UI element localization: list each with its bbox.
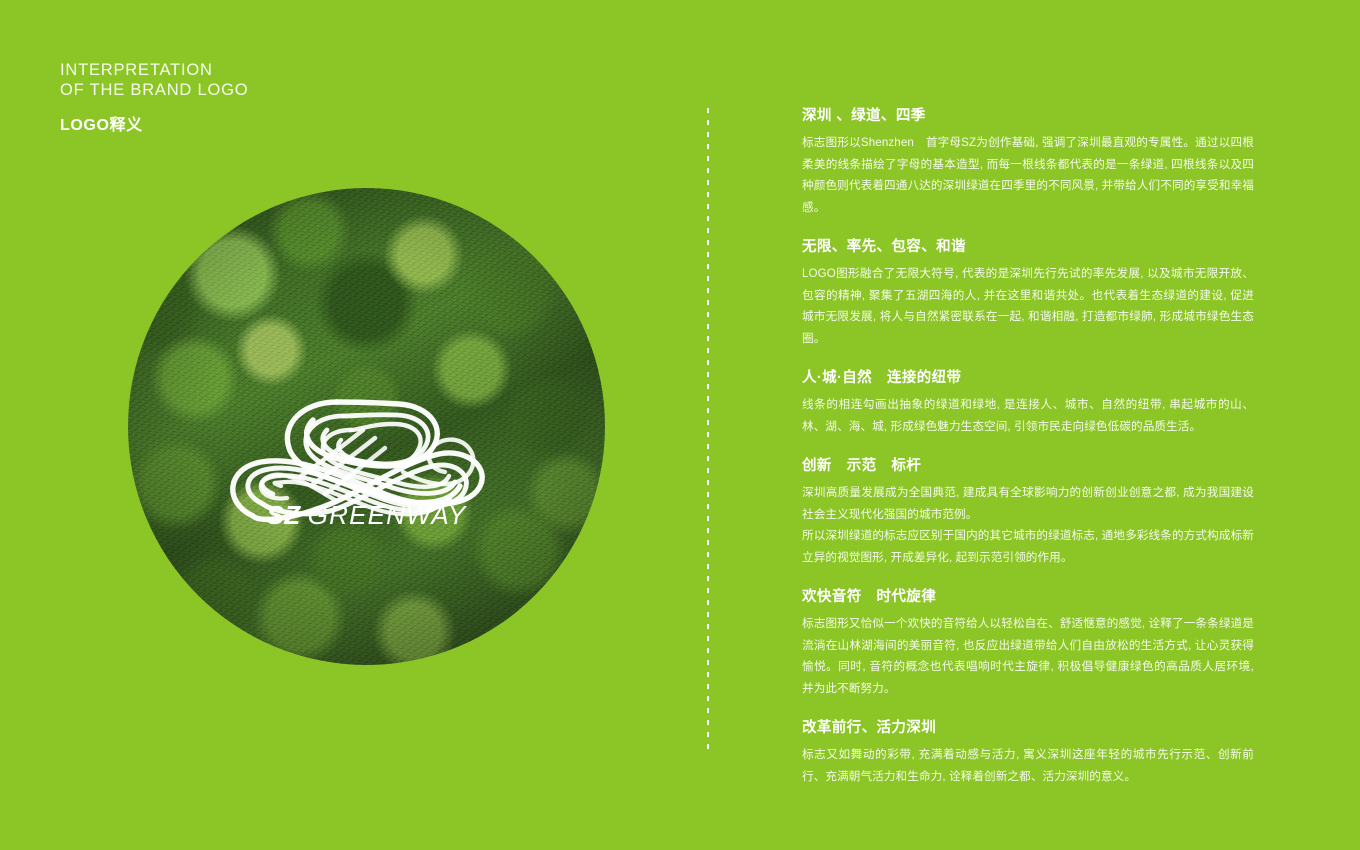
content-block: 欢快音符 时代旋律 标志图形又恰似一个欢快的音符给人以轻松自在、舒适惬意的感觉,… [802,587,1254,699]
wordmark-sz: SZ [266,500,300,530]
block-paragraph: 线条的相连勾画出抽象的绿道和绿地, 是连接人、城市、自然的纽带, 串起城市的山、… [802,394,1254,437]
block-paragraph: 标志图形又恰似一个欢快的音符给人以轻松自在、舒适惬意的感觉, 诠释了一条条绿道是… [802,613,1254,699]
block-heading: 人·城·自然 连接的纽带 [802,368,1254,388]
content-block: 无限、率先、包容、和谐 LOGO图形融合了无限大符号, 代表的是深圳先行先试的率… [802,237,1254,349]
content-block: 创新 示范 标杆 深圳高质量发展成为全国典范, 建成具有全球影响力的创新创业创意… [802,456,1254,568]
page-header: INTERPRETATION OF THE BRAND LOGO LOGO释义 [60,60,480,135]
block-paragraph: LOGO图形融合了无限大符号, 代表的是深圳先行先试的率先发展, 以及城市无限开… [802,263,1254,349]
block-paragraph: 标志又如舞动的彩带, 充满着动感与活力, 寓义深圳这座年轻的城市先行示范、创新前… [802,744,1254,787]
block-heading: 无限、率先、包容、和谐 [802,237,1254,257]
logo-wordmark: SZGREENWAY [128,500,605,531]
page-title: LOGO释义 [60,111,480,135]
content-block: 深圳 、绿道、四季 标志图形以Shenzhen 首字母SZ为创作基础, 强调了深… [802,106,1254,218]
block-paragraph: 标志图形以Shenzhen 首字母SZ为创作基础, 强调了深圳最直观的专属性。通… [802,132,1254,218]
vertical-dashed-divider [707,108,709,756]
header-en-line-2: OF THE BRAND LOGO [60,80,480,100]
wordmark-greenway: GREENWAY [308,500,467,530]
interpretation-content: 深圳 、绿道、四季 标志图形以Shenzhen 首字母SZ为创作基础, 强调了深… [802,106,1254,787]
block-heading: 改革前行、活力深圳 [802,718,1254,738]
logo-showcase: SZGREENWAY [128,188,605,665]
block-paragraph: 所以深圳绿道的标志应区别于国内的其它城市的绿道标志, 通地多彩线条的方式构成标新… [802,525,1254,568]
content-block: 改革前行、活力深圳 标志又如舞动的彩带, 充满着动感与活力, 寓义深圳这座年轻的… [802,718,1254,787]
block-heading: 深圳 、绿道、四季 [802,106,1254,126]
block-heading: 欢快音符 时代旋律 [802,587,1254,607]
block-heading: 创新 示范 标杆 [802,456,1254,476]
content-block: 人·城·自然 连接的纽带 线条的相连勾画出抽象的绿道和绿地, 是连接人、城市、自… [802,368,1254,437]
block-paragraph: 深圳高质量发展成为全国典范, 建成具有全球影响力的创新创业创意之都, 成为我国建… [802,482,1254,525]
brand-logo-interpretation-page: INTERPRETATION OF THE BRAND LOGO LOGO释义 [0,0,1360,850]
header-en-line-1: INTERPRETATION [60,60,480,80]
